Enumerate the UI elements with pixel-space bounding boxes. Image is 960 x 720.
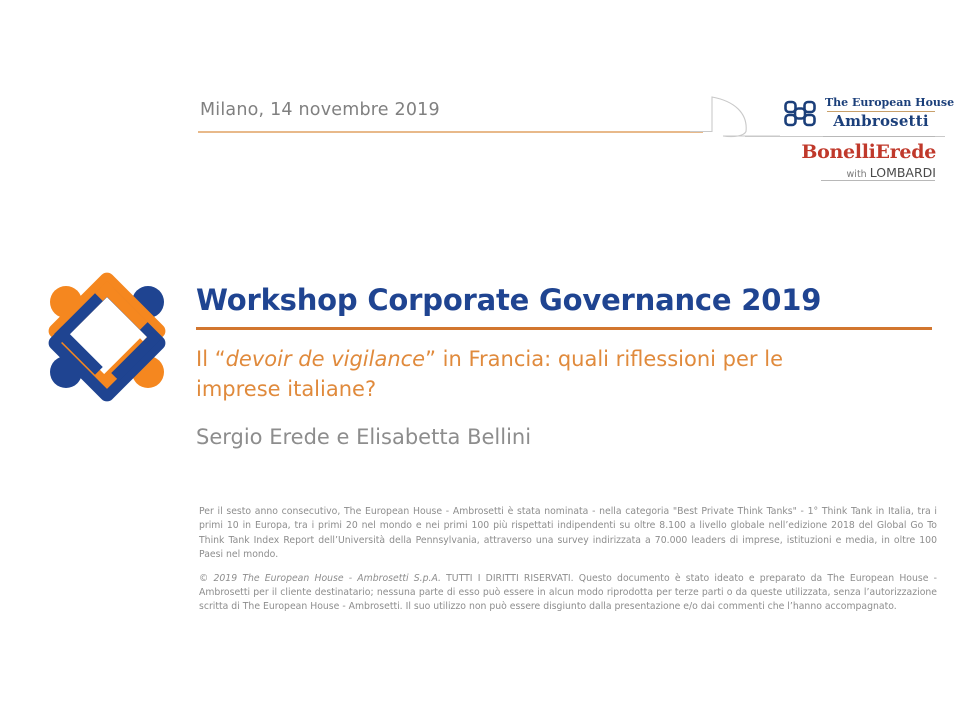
workshop-corporate-governance-diamond-mark-icon: [36, 272, 178, 402]
ambrosetti-logo: The European House Ambrosetti: [783, 96, 935, 138]
page-title: Workshop Corporate Governance 2019: [196, 282, 936, 318]
ambrosetti-interlocking-squares-mark-icon: [783, 99, 819, 129]
subtitle-prefix: Il “: [196, 347, 226, 371]
bonellierede-logo: BonelliErede with LOMBARDI: [770, 142, 936, 182]
page-subtitle: Il “devoir de vigilance” in Francia: qua…: [196, 344, 866, 404]
title-orange-rule: [196, 327, 932, 330]
title-block: Workshop Corporate Governance 2019 Il “d…: [196, 282, 936, 451]
ambrosetti-line-1: The European House: [825, 96, 937, 110]
ambrosetti-logo-text: The European House Ambrosetti: [825, 96, 937, 130]
ambrosetti-logo-underline: [823, 136, 935, 137]
ambrosetti-line-2: Ambrosetti: [825, 113, 937, 130]
think-tank-ranking-paragraph: Per il sesto anno consecutivo, The Europ…: [199, 505, 937, 563]
fineprint-block: Per il sesto anno consecutivo, The Europ…: [199, 505, 937, 615]
copyright-paragraph: © 2019 The European House - Ambrosetti S…: [199, 572, 937, 615]
bonellierede-logo-underline: [821, 180, 935, 181]
copyright-notice: © 2019 The European House - Ambrosetti S…: [199, 573, 441, 584]
authors-line: Sergio Erede e Elisabetta Bellini: [196, 424, 936, 451]
header-orange-rule: [198, 131, 703, 133]
slide-header: Milano, 14 novembre 2019 The European Ho…: [0, 0, 960, 200]
bonellierede-partner-name: LOMBARDI: [870, 165, 936, 180]
page-curl-swoosh-icon: [690, 95, 780, 140]
bonellierede-with-word: with: [847, 169, 870, 180]
header-date: Milano, 14 novembre 2019: [200, 100, 440, 120]
bonellierede-name: BonelliErede: [770, 142, 936, 163]
subtitle-italic-phrase: devoir de vigilance: [226, 347, 426, 371]
